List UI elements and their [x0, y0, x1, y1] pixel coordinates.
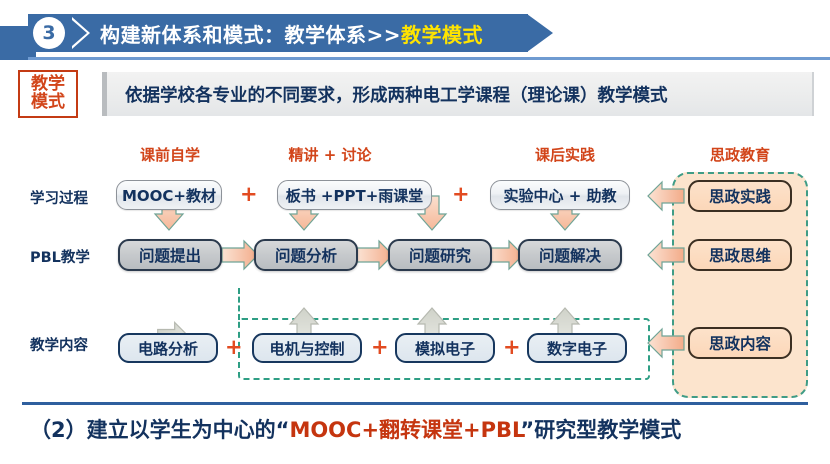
- footer-quote-open: “: [276, 418, 290, 442]
- row3-plus-1: +: [225, 337, 243, 358]
- page-title-main: 构建新体系和模式：教学体系>>: [100, 19, 401, 48]
- node-row3-circuit-analysis[interactable]: 电路分析: [118, 333, 218, 363]
- footer-caption: （2）建立以学生为中心的“MOOC+翻转课堂+PBL”研究型教学模式: [30, 414, 820, 444]
- node-row3-analog-electronics[interactable]: 模拟电子: [395, 333, 495, 363]
- node-row3-motor-control[interactable]: 电机与控制: [252, 333, 362, 363]
- node-sizheng-thinking[interactable]: 思政思维: [688, 239, 792, 271]
- subtitle-text: 依据学校各专业的不同要求，形成两种电工学课程（理论课）教学模式: [125, 82, 668, 107]
- node-row2-problem-analyze[interactable]: 问题分析: [254, 239, 358, 271]
- chevron-right-inner-icon: [72, 20, 87, 46]
- node-sizheng-content[interactable]: 思政内容: [688, 327, 792, 359]
- footer-quote-close: ”: [520, 418, 534, 442]
- column-header-3: 课后实践: [500, 144, 630, 165]
- row-label-teaching-content: 教学内容: [30, 334, 88, 355]
- header-step-badge: 3: [33, 17, 65, 49]
- header-step-number: 3: [42, 24, 55, 43]
- node-row1-mooc[interactable]: MOOC+教材: [116, 180, 222, 210]
- column-header-1: 课前自学: [110, 144, 230, 165]
- header-ribbon-arrow-tip: [527, 14, 553, 52]
- header-underline: [28, 57, 830, 60]
- node-sizheng-practice[interactable]: 思政实践: [688, 180, 792, 212]
- node-row3-digital-electronics[interactable]: 数字电子: [527, 333, 627, 363]
- column-header-4: 思政教育: [680, 144, 800, 165]
- node-row1-lab[interactable]: 实验中心 + 助教: [490, 180, 630, 210]
- column-header-2: 精讲 + 讨论: [250, 144, 410, 165]
- subtitle-row: 教学 模式 依据学校各专业的不同要求，形成两种电工学课程（理论课）教学模式: [18, 70, 814, 118]
- footer-text-after: 研究型教学模式: [534, 418, 681, 442]
- page-title-highlight: 教学模式: [401, 19, 483, 48]
- footer-text-highlight: MOOC+翻转课堂+PBL: [289, 418, 520, 442]
- node-row2-problem-raise[interactable]: 问题提出: [118, 239, 222, 271]
- subtitle-tag: 教学 模式: [18, 70, 78, 118]
- row3-plus-2: +: [371, 337, 389, 358]
- row-label-pbl-teaching: PBL教学: [30, 246, 90, 267]
- subtitle-tag-line2: 模式: [31, 94, 65, 112]
- page-title: 构建新体系和模式：教学体系>>教学模式: [100, 14, 483, 52]
- row3-plus-3: +: [503, 337, 521, 358]
- footer-divider: [22, 402, 808, 405]
- node-row2-problem-research[interactable]: 问题研究: [388, 239, 492, 271]
- node-row2-problem-solve[interactable]: 问题解决: [518, 239, 622, 271]
- subtitle-banner: 依据学校各专业的不同要求，形成两种电工学课程（理论课）教学模式: [102, 72, 814, 116]
- row3-group-dashed-riser: [238, 288, 240, 320]
- row1-plus-2: +: [452, 184, 470, 205]
- footer-text-before: （2）建立以学生为中心的: [30, 418, 276, 442]
- row-label-learning-process: 学习过程: [30, 187, 88, 208]
- node-row1-ppt[interactable]: 板书 +PPT+雨课堂: [277, 180, 432, 210]
- row1-plus-1: +: [240, 184, 258, 205]
- teaching-model-diagram: 课前自学 精讲 + 讨论 课后实践 思政教育 学习过程 PBL教学 教学内容 M…: [0, 128, 830, 398]
- header-banner: 3 构建新体系和模式：教学体系>>教学模式: [0, 8, 830, 54]
